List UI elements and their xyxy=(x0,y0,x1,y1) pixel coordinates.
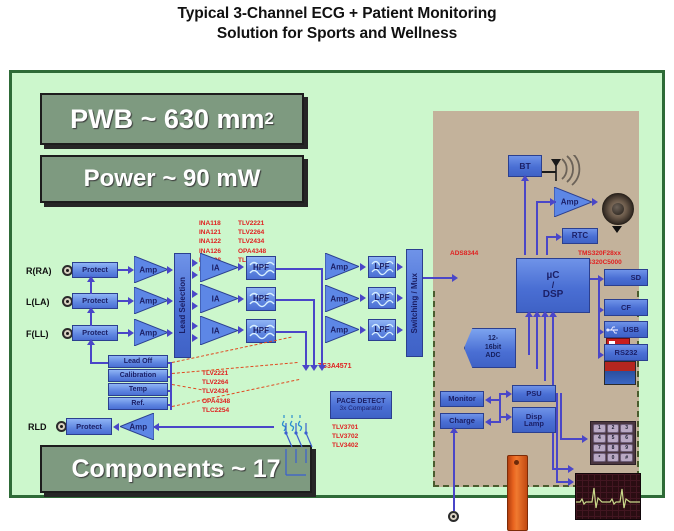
amp2-triangle-3[interactable]: Amp xyxy=(325,316,359,343)
ecg-trace xyxy=(576,474,640,519)
amp-triangle-la[interactable]: Amp xyxy=(134,287,168,314)
hpf-block-3[interactable]: HPF xyxy=(246,319,276,343)
adc-line-1: 12- xyxy=(485,335,501,344)
arrow-leadsel-ia3-b xyxy=(192,334,198,342)
adc-line-2: 16bit xyxy=(485,344,501,353)
arrow-ll-leadsel xyxy=(167,329,173,337)
input-label-ll: F(LL) xyxy=(26,329,49,339)
wire-mcu-bus-3 xyxy=(544,313,546,381)
lead-off-block[interactable]: Lead Off xyxy=(108,355,168,368)
arrow-leadsel-ia1-a xyxy=(192,259,198,267)
arrow-amp2-lpf2 xyxy=(360,294,366,302)
arrow-audioamp-in xyxy=(550,198,556,206)
calibration-block[interactable]: Calibration xyxy=(108,369,168,382)
wire-charge-tie xyxy=(491,421,501,423)
protect-block-ra[interactable]: Protect xyxy=(72,262,118,278)
keypad-key[interactable]: 9 xyxy=(620,444,633,453)
ia-triangle-2[interactable]: IA xyxy=(200,284,238,313)
keypad-key[interactable]: * xyxy=(593,453,606,462)
wire-battery-charge xyxy=(453,429,455,511)
wire-power-bus xyxy=(499,393,501,423)
arrow-ia3-hpf3 xyxy=(238,326,244,334)
arrow-charge-up xyxy=(450,427,458,433)
ecg-waveform-display xyxy=(575,473,641,520)
hpf-block-2[interactable]: HPF xyxy=(246,287,276,311)
part-number-adc: ADS8344 xyxy=(450,249,478,258)
dashed-link-3 xyxy=(172,379,299,407)
pace-detect-sublabel: 3x Comparator xyxy=(340,406,383,413)
arrow-bt-up xyxy=(521,175,529,181)
arrow-amp2-lpf1 xyxy=(360,263,366,271)
usb-icon xyxy=(606,325,620,335)
arrow-ia1-hpf1 xyxy=(238,263,244,271)
amp-triangle-ll[interactable]: Amp xyxy=(134,319,168,346)
arrow-protect-tie-2 xyxy=(87,307,95,313)
wire-mcu-bus-2 xyxy=(536,313,538,369)
rs232-block[interactable]: RS232 xyxy=(604,344,648,361)
arrow-bus-2 xyxy=(533,311,541,317)
ref-block[interactable]: Ref. xyxy=(108,397,168,410)
wire-displamp-display-v xyxy=(552,433,554,469)
wire-hpf3-bus xyxy=(276,331,306,333)
wire-displamp-tie xyxy=(499,416,507,418)
callout-pwb: PWB ~ 630 mm2 xyxy=(40,93,304,145)
monitor-block[interactable]: Monitor xyxy=(440,391,484,407)
arrow-tap-1 xyxy=(318,365,326,371)
wire-monitor-tie xyxy=(491,399,501,401)
keypad-key[interactable]: 7 xyxy=(593,444,606,453)
dashed-link-4 xyxy=(172,384,202,390)
callout-pwb-superscript: 2 xyxy=(265,109,274,129)
arrow-la-leadsel xyxy=(167,297,173,305)
arrow-mux-adc xyxy=(452,274,458,282)
lpf-block-2[interactable]: LPF xyxy=(368,287,396,309)
keypad-key[interactable]: 8 xyxy=(607,444,620,453)
wire-mcu-audioamp-v xyxy=(536,201,538,255)
amp2-triangle-2[interactable]: Amp xyxy=(325,285,359,312)
keypad-key[interactable]: 1 xyxy=(593,424,606,433)
wire-tap-2 xyxy=(313,299,315,367)
bt-block[interactable]: BT xyxy=(508,155,542,177)
analog-switch-symbol[interactable] xyxy=(280,423,316,485)
temp-block[interactable]: Temp xyxy=(108,383,168,396)
callout-components-label: Components ~ 17 xyxy=(71,455,280,484)
keypad-key[interactable]: 0 xyxy=(607,453,620,462)
wire-hpf2-bus xyxy=(276,299,314,301)
mcu-separator: / xyxy=(552,281,555,290)
arrow-bus-4 xyxy=(549,311,557,317)
arrow-ia2-hpf2 xyxy=(238,295,244,303)
switching-mux-label: Switching / Mux xyxy=(411,273,419,333)
lead-selection-block[interactable]: Lead Selection xyxy=(174,253,191,358)
switching-mux-block[interactable]: Switching / Mux xyxy=(406,249,423,357)
arrow-tap-3 xyxy=(302,365,310,371)
wire-hpf1-bus xyxy=(276,268,322,270)
protect-block-ll[interactable]: Protect xyxy=(72,325,118,341)
disp-label: Disp xyxy=(526,413,542,421)
keypad-key[interactable]: 4 xyxy=(593,434,606,443)
hpf-block-1[interactable]: HPF xyxy=(246,256,276,280)
keypad-key[interactable]: 5 xyxy=(607,434,620,443)
arrow-leadsel-ia3-a xyxy=(192,322,198,330)
part-numbers-pace-detect: TLV3701 TLV3702 TLV3402 xyxy=(332,423,358,451)
dsp-label: DSP xyxy=(543,290,564,300)
wire-bt-mcu xyxy=(524,177,526,255)
wire-mcu-bus-4 xyxy=(552,313,554,393)
callout-components: Components ~ 17 xyxy=(40,445,312,493)
arrow-leadsel-ia2-b xyxy=(192,302,198,310)
callout-power-label: Power ~ 90 mW xyxy=(84,165,261,193)
wire-mcu-keypad xyxy=(560,438,582,440)
callout-pwb-label: PWB ~ 630 mm xyxy=(70,104,264,135)
ia-triangle-1[interactable]: IA xyxy=(200,253,238,282)
arrow-amp2-lpf3 xyxy=(360,326,366,334)
arrow-leadsel-ia2-a xyxy=(192,290,198,298)
amp-triangle-ra[interactable]: Amp xyxy=(134,256,168,283)
speaker-icon xyxy=(602,193,634,225)
keypad[interactable]: 1 2 3 4 5 6 7 8 9 * 0 # xyxy=(590,421,636,465)
sd-block[interactable]: SD xyxy=(604,269,648,286)
wire-mcu-rtc-v xyxy=(546,236,548,255)
mcu-label: µC xyxy=(547,271,560,281)
wire-cal-right xyxy=(168,376,172,378)
lamp-label: Lamp xyxy=(524,420,544,428)
adc-block[interactable]: 12- 16bit ADC xyxy=(464,328,516,368)
wire-rld-feedback xyxy=(154,426,274,428)
keypad-key[interactable]: # xyxy=(620,453,633,462)
lpf-block-1[interactable]: LPF xyxy=(368,256,396,278)
battery-icon xyxy=(507,455,528,531)
rld-protect-block[interactable]: Protect xyxy=(66,418,112,435)
page-title: Typical 3-Channel ECG + Patient Monitori… xyxy=(0,4,674,45)
adc-body: 12- 16bit ADC xyxy=(464,328,516,368)
wire-mcu-bus-1 xyxy=(528,313,530,355)
protect-block-la[interactable]: Protect xyxy=(72,293,118,309)
arrow-lpf2-mux xyxy=(397,294,403,302)
arrow-lpf3-mux xyxy=(397,326,403,334)
amp2-triangle-1[interactable]: Amp xyxy=(325,253,359,280)
power-input-node[interactable] xyxy=(448,511,459,522)
title-line-2: Solution for Sports and Wellness xyxy=(0,24,674,44)
wire-peripheral-bus xyxy=(598,278,600,356)
callout-power: Power ~ 90 mW xyxy=(40,155,304,203)
title-line-1: Typical 3-Channel ECG + Patient Monitori… xyxy=(178,5,497,22)
arrow-rld-amp-in xyxy=(153,423,159,431)
arrow-protect-tie-3 xyxy=(87,339,95,345)
wire-tap-1 xyxy=(321,268,323,367)
wire-mcu-display xyxy=(556,481,570,483)
disp-lamp-block[interactable]: Disp Lamp xyxy=(512,407,556,433)
arrow-tap-2 xyxy=(310,365,318,371)
dashed-link-2 xyxy=(172,362,298,374)
rtc-block[interactable]: RTC xyxy=(562,228,598,244)
keypad-key[interactable]: 6 xyxy=(620,434,633,443)
arrow-lpf1-mux xyxy=(397,263,403,271)
arrow-leadsel-ia1-b xyxy=(192,271,198,279)
charge-block[interactable]: Charge xyxy=(440,413,484,429)
pace-detect-label: PACE DETECT xyxy=(337,398,386,405)
wire-mux-adc xyxy=(423,277,453,279)
input-label-la: L(LA) xyxy=(26,297,50,307)
diagram-frame: PWB ~ 630 mm2 Power ~ 90 mW Components ~… xyxy=(9,70,665,498)
psu-block[interactable]: PSU xyxy=(512,385,556,402)
wire-mcu-keypad-v xyxy=(560,393,562,438)
cf-card-icon xyxy=(604,361,636,385)
arrow-ra-leadsel xyxy=(167,266,173,274)
ia-triangle-3[interactable]: IA xyxy=(200,316,238,345)
arrow-psu-in xyxy=(506,390,512,398)
rld-amp-triangle[interactable]: Amp xyxy=(120,413,154,440)
cf-block[interactable]: CF xyxy=(604,299,648,316)
lead-selection-label: Lead Selection xyxy=(179,277,187,333)
input-label-rld: RLD xyxy=(28,422,47,432)
wire-ref-bus-vert xyxy=(170,362,172,410)
arrow-protect-tie-1 xyxy=(87,276,95,282)
wire-temp-right xyxy=(168,390,172,392)
arrow-bus-1 xyxy=(525,311,533,317)
wire-tap-3 xyxy=(305,331,307,367)
arrow-rld-protect xyxy=(113,423,119,431)
arrow-mcu-keypad xyxy=(582,435,588,443)
antenna-icon xyxy=(548,155,602,191)
arrow-rtc-in xyxy=(556,233,562,241)
lpf-block-3[interactable]: LPF xyxy=(368,319,396,341)
arrow-speaker-out xyxy=(612,226,622,233)
pace-detect-block[interactable]: PACE DETECT 3x Comparator xyxy=(330,391,392,419)
wire-mcu-display-v xyxy=(556,393,558,481)
input-label-ra: R(RA) xyxy=(26,266,52,276)
arrow-display-backlight xyxy=(568,465,574,473)
mcu-dsp-block[interactable]: µC / DSP xyxy=(516,258,590,313)
keypad-key[interactable]: 3 xyxy=(620,424,633,433)
arrow-amp-speaker xyxy=(592,198,598,206)
keypad-key[interactable]: 2 xyxy=(607,424,620,433)
audio-amp-triangle[interactable]: Amp xyxy=(554,187,592,217)
part-numbers-filter-stage: TLV2221 TLV2264 TLV2434 OPA4348 TLC2254 xyxy=(202,369,230,415)
arrow-bus-3 xyxy=(541,311,549,317)
adc-line-3: ADC xyxy=(485,352,501,361)
